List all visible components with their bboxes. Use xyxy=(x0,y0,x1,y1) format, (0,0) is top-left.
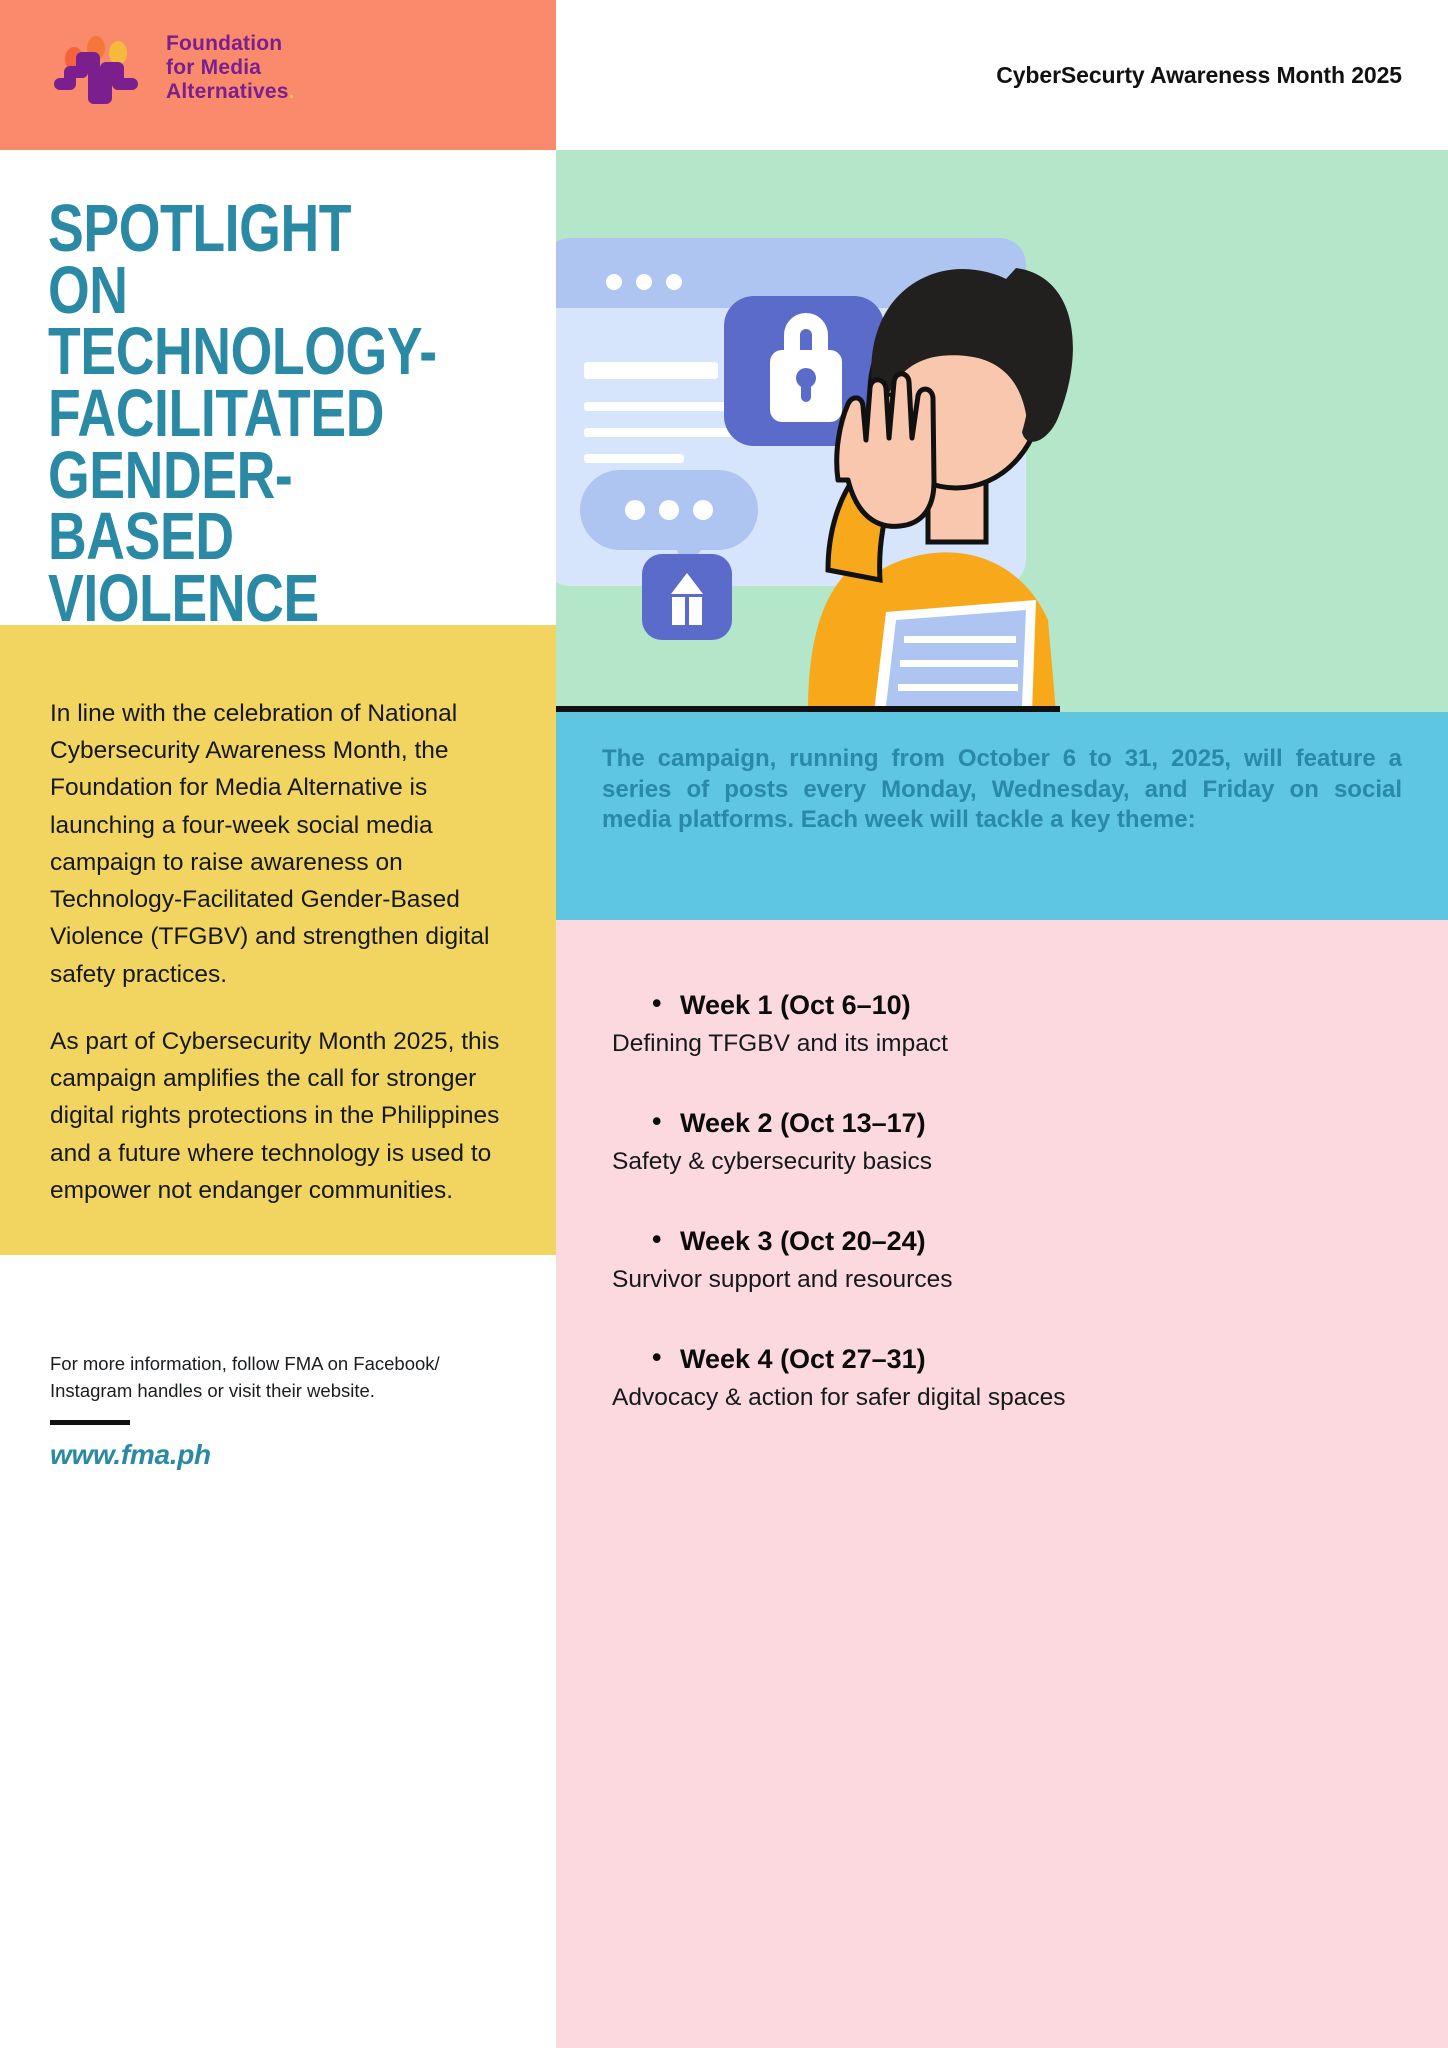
week-heading: Week 2 (Oct 13–17) xyxy=(680,1108,1392,1139)
list-item: Week 1 (Oct 6–10) Defining TFGBV and its… xyxy=(612,990,1392,1060)
campaign-description: The campaign, running from October 6 to … xyxy=(602,744,1402,836)
list-item: Week 3 (Oct 20–24) Survivor support and … xyxy=(612,1226,1392,1296)
week-heading: Week 3 (Oct 20–24) xyxy=(680,1226,1392,1257)
fma-logo-text: Foundation for Media Alternatives. xyxy=(166,32,295,104)
campaign-description-panel: The campaign, running from October 6 to … xyxy=(556,712,1448,920)
weekly-themes-panel: Week 1 (Oct 6–10) Defining TFGBV and its… xyxy=(556,920,1448,2048)
page-title: SPOTLIGHT ON TECHNOLOGY- FACILITATED GEN… xyxy=(48,198,432,629)
week-description: Survivor support and resources xyxy=(612,1263,1392,1296)
footer-note: For more information, follow FMA on Face… xyxy=(50,1350,490,1404)
list-item: Week 2 (Oct 13–17) Safety & cybersecurit… xyxy=(612,1108,1392,1178)
fma-logo: Foundation for Media Alternatives. xyxy=(52,28,295,108)
fma-wave-logo-icon xyxy=(52,28,152,108)
week-description: Advocacy & action for safer digital spac… xyxy=(612,1381,1392,1414)
logo-line-3: Alternatives. xyxy=(166,80,295,104)
intro-paragraph-1: In line with the celebration of National… xyxy=(50,695,506,993)
footer-panel: For more information, follow FMA on Face… xyxy=(50,1350,490,1471)
week-heading: Week 1 (Oct 6–10) xyxy=(680,990,1392,1021)
logo-line-1: Foundation xyxy=(166,32,295,56)
hero-illustration xyxy=(556,150,1448,712)
right-column: The campaign, running from October 6 to … xyxy=(556,150,1448,2048)
intro-panel: In line with the celebration of National… xyxy=(0,625,556,1255)
list-item: Week 4 (Oct 27–31) Advocacy & action for… xyxy=(612,1344,1392,1414)
logo-dot: . xyxy=(289,80,295,103)
week-description: Defining TFGBV and its impact xyxy=(612,1027,1392,1060)
logo-band: Foundation for Media Alternatives. xyxy=(0,0,556,150)
website-link[interactable]: www.fma.ph xyxy=(50,1439,490,1471)
week-description: Safety & cybersecurity basics xyxy=(612,1145,1392,1178)
campaign-header-title: CyberSecurty Awareness Month 2025 xyxy=(996,0,1402,150)
left-column: SPOTLIGHT ON TECHNOLOGY- FACILITATED GEN… xyxy=(0,150,556,2048)
logo-line-2: for Media xyxy=(166,56,295,80)
week-heading: Week 4 (Oct 27–31) xyxy=(680,1344,1392,1375)
footer-divider xyxy=(50,1420,130,1425)
page-header: Foundation for Media Alternatives. Cyber… xyxy=(0,0,1448,150)
pencil-icon-graphic xyxy=(642,554,732,640)
document-page-graphic xyxy=(874,600,1036,712)
intro-paragraph-2: As part of Cybersecurity Month 2025, thi… xyxy=(50,1023,506,1209)
